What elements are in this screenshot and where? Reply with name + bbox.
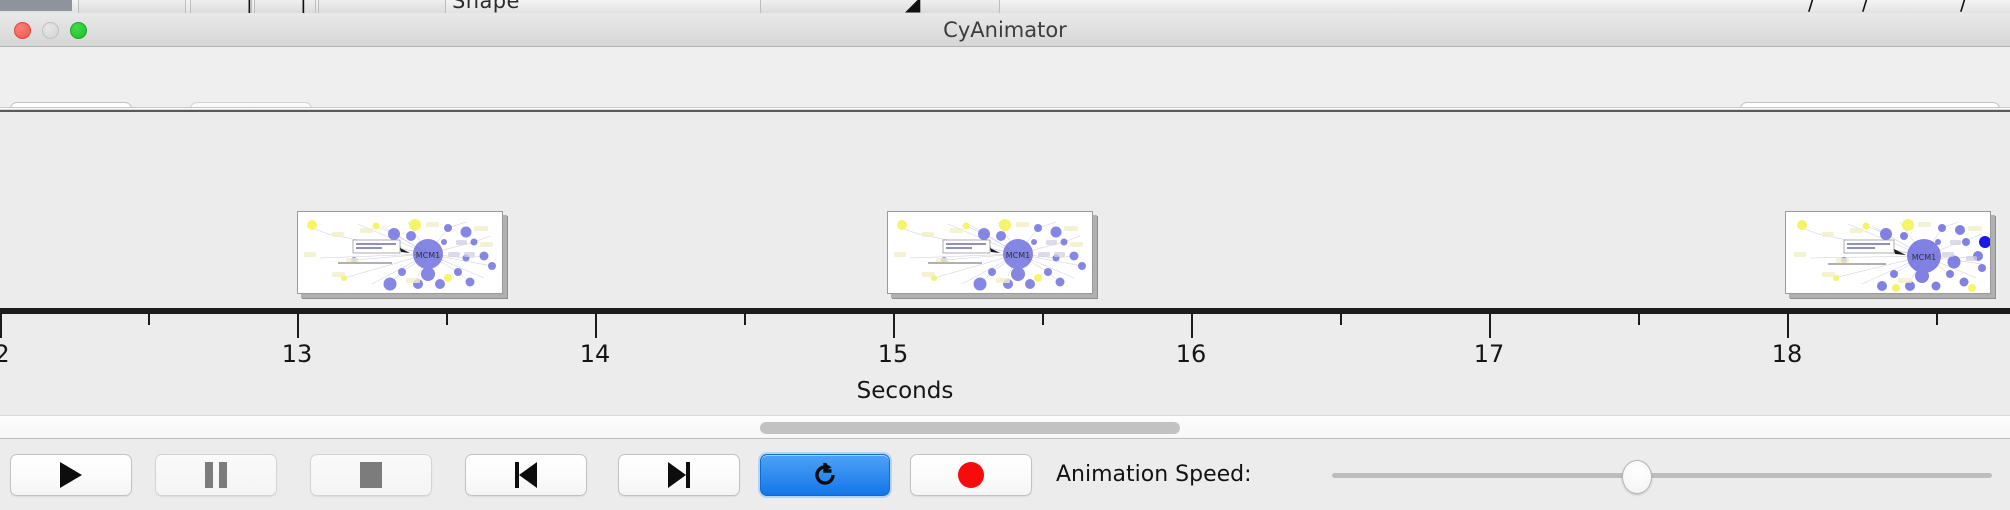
skip-back-icon — [515, 462, 537, 488]
axis-tick-label: 15 — [878, 340, 909, 368]
timeline-horizontal-scrollbar[interactable] — [0, 415, 2010, 439]
previous-frame-button[interactable] — [465, 454, 587, 496]
animation-speed-slider[interactable] — [1332, 454, 1992, 496]
axis-title-text: Seconds — [857, 378, 954, 404]
background-window-chip — [78, 0, 186, 13]
background-window-dark-chip — [0, 0, 72, 11]
loop-refresh-icon — [811, 461, 839, 489]
cyanimator-window: | | ◢ Shape / / / CyAnimator + Clear All… — [0, 0, 2010, 510]
stop-icon — [360, 462, 382, 488]
timeline-frame-thumbnail[interactable]: MCM1 — [297, 211, 503, 294]
slider-track[interactable] — [1332, 473, 1992, 478]
pause-button[interactable] — [155, 454, 277, 496]
play-button[interactable] — [10, 454, 132, 496]
axis-title: Seconds — [0, 378, 2010, 404]
timeline-frame-thumbnail[interactable]: MCM1 — [887, 211, 1093, 294]
animation-speed-label: Animation Speed: — [1056, 454, 1252, 496]
svg-text:MCM1: MCM1 — [416, 251, 440, 260]
background-window-sliver: | | ◢ Shape / / / — [0, 0, 2010, 14]
next-frame-button[interactable] — [618, 454, 740, 496]
svg-text:MCM1: MCM1 — [1912, 253, 1936, 262]
play-icon — [60, 462, 82, 488]
loop-button[interactable] — [760, 454, 890, 496]
axis-tick-label: 17 — [1474, 340, 1505, 368]
background-window-chip — [318, 0, 446, 13]
timeline-canvas[interactable]: MCM1 — [0, 112, 2010, 310]
slider-knob[interactable] — [1622, 460, 1652, 494]
background-window-label: Shape — [452, 0, 520, 13]
timeline-frame-thumbnail[interactable]: MCM1 — [1785, 211, 1991, 294]
record-icon — [958, 462, 984, 488]
axis-tick-label: 13 — [282, 340, 313, 368]
frame-toolbar: + Clear All Frames — [0, 47, 2010, 108]
background-window-chip — [190, 0, 252, 13]
skip-forward-icon — [668, 462, 690, 488]
playback-control-bar: Animation Speed: — [0, 440, 2010, 510]
window-title: CyAnimator — [0, 13, 2010, 47]
timeline-ticks — [0, 312, 2010, 342]
title-bar[interactable]: CyAnimator — [0, 13, 2010, 47]
axis-tick-label: 18 — [1772, 340, 1803, 368]
axis-tick-label: 2 — [0, 340, 10, 368]
scrollbar-thumb[interactable] — [760, 422, 1180, 434]
svg-text:MCM1: MCM1 — [1006, 251, 1030, 260]
axis-tick-label: 16 — [1176, 340, 1207, 368]
stop-button[interactable] — [310, 454, 432, 496]
pause-icon — [205, 462, 227, 488]
background-window-chip — [760, 0, 1000, 13]
axis-tick-label: 14 — [580, 340, 611, 368]
record-button[interactable] — [910, 454, 1032, 496]
